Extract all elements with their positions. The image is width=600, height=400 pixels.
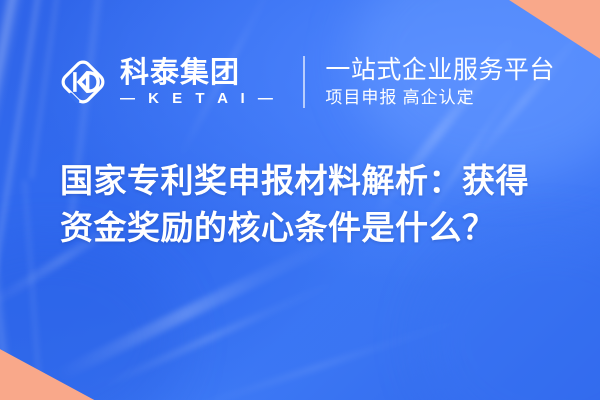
slogan-main: 一站式企业服务平台 xyxy=(325,56,555,85)
company-name-cn: 科泰集团 xyxy=(120,58,277,88)
logo-lockup: 科泰集团 — K E T A I — 一站式企业服务平台 项目申报 高企认定 xyxy=(54,50,555,114)
promo-banner: 科泰集团 — K E T A I — 一站式企业服务平台 项目申报 高企认定 国… xyxy=(0,0,600,400)
page-title: 国家专利奖申报材料解析：获得资金奖励的核心条件是什么？ xyxy=(60,158,544,252)
slogan-sub: 项目申报 高企认定 xyxy=(325,89,555,108)
vertical-divider xyxy=(303,56,305,108)
wordmark: 科泰集团 — K E T A I — xyxy=(120,58,277,105)
slogan-block: 一站式企业服务平台 项目申报 高企认定 xyxy=(325,56,555,107)
company-name-en: — K E T A I — xyxy=(120,91,277,106)
ketai-logo-icon xyxy=(54,53,112,111)
